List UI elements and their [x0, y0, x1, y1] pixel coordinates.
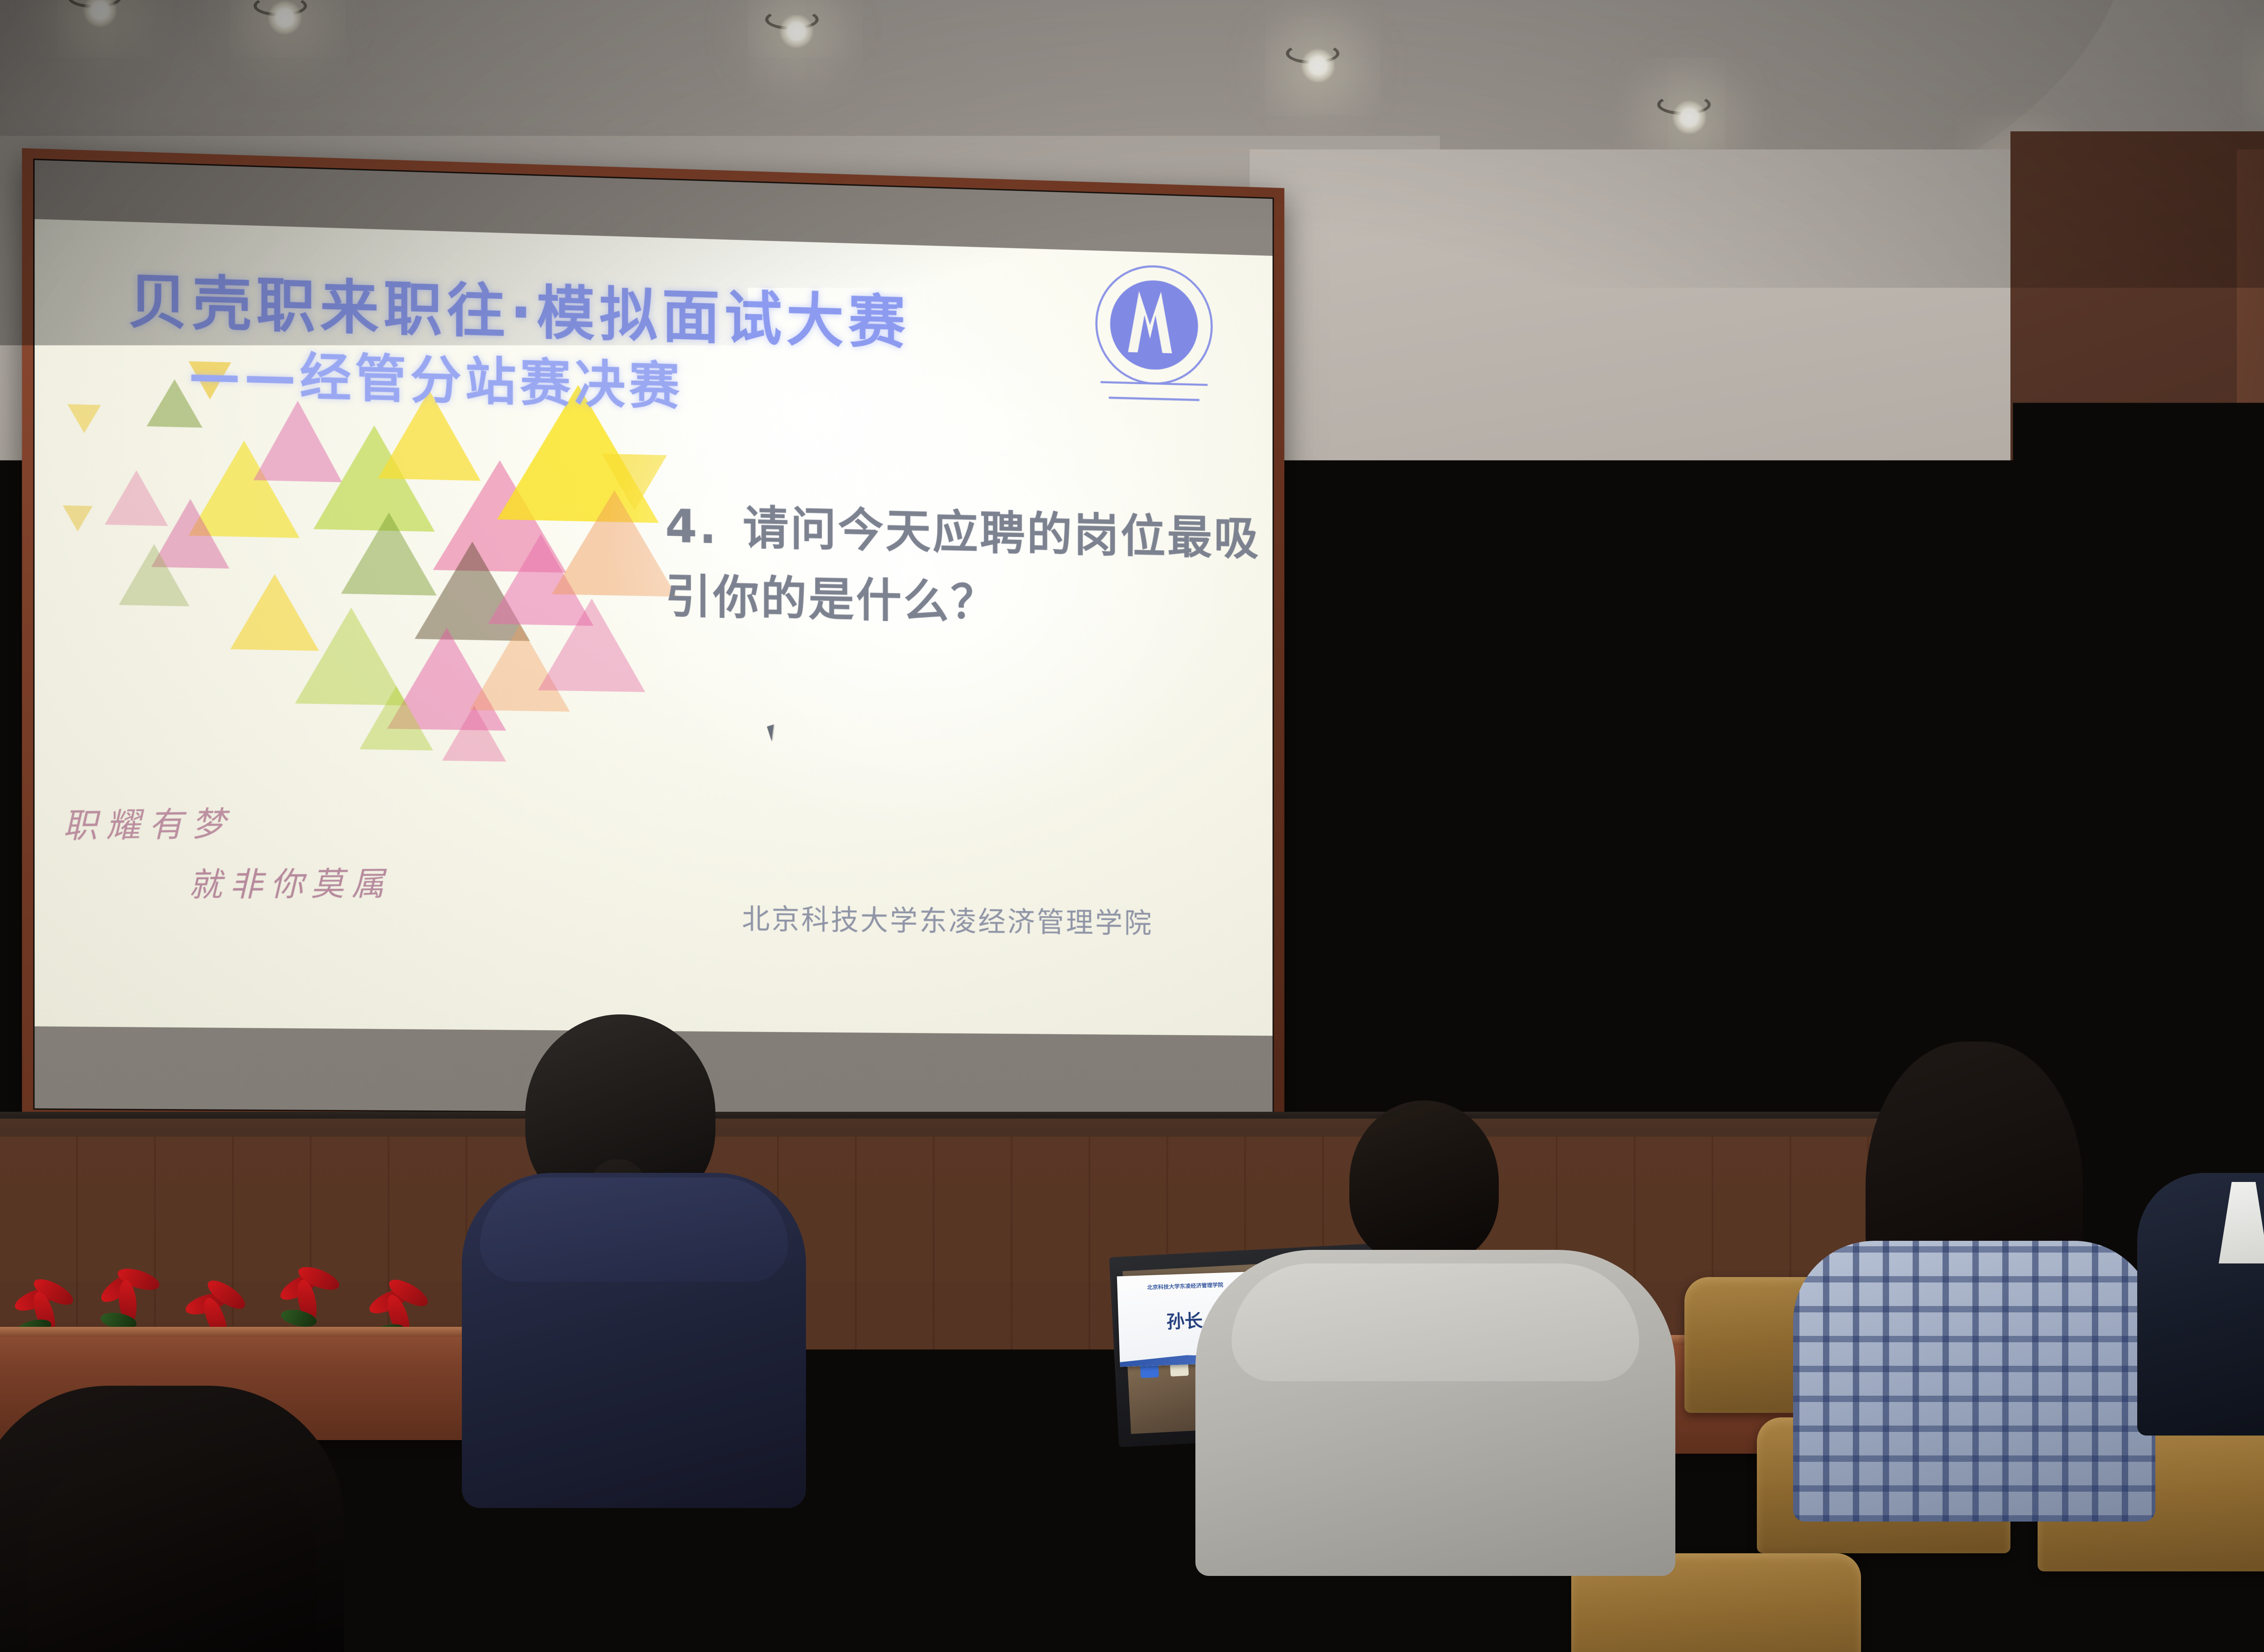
slide-footer: 北京科技大学东凌经济管理学院	[742, 896, 1153, 941]
contestant-hand	[1425, 891, 1468, 945]
hoodie-hood	[1232, 1263, 1639, 1381]
decor-triangle	[67, 404, 101, 433]
hoodie-hood	[480, 1177, 788, 1282]
gooseneck-microphone-head	[2161, 869, 2182, 897]
auditorium-chair[interactable]	[625, 1553, 906, 1652]
host-lips	[2231, 815, 2250, 822]
name-card-name: 孙长	[1166, 1306, 1203, 1334]
slide-handwriting-line1: 职耀有梦	[62, 797, 235, 848]
projection-screen[interactable]: 贝壳职来职往·模拟面试大赛 ——经管分站赛决赛 4.请问今天应聘的岗位最吸引你的…	[33, 158, 1274, 1116]
decor-triangle	[360, 685, 433, 750]
presentation-slide: 贝壳职来职往·模拟面试大赛 ——经管分站赛决赛 4.请问今天应聘的岗位最吸引你的…	[34, 219, 1272, 1036]
ceiling-spotlight	[1672, 100, 1707, 135]
lecture-hall-scene: 贝壳职来职往·模拟面试大赛 ——经管分站赛决赛 4.请问今天应聘的岗位最吸引你的…	[0, 0, 2264, 1652]
ceiling-spotlight	[779, 14, 814, 49]
projection-screen-frame: 贝壳职来职往·模拟面试大赛 ——经管分站赛决赛 4.请问今天应聘的岗位最吸引你的…	[22, 148, 1285, 1127]
contestant-number-badge: 1	[1471, 969, 1530, 1023]
ceiling-spotlight	[1300, 48, 1336, 83]
audience-member-plaid-shirt	[1793, 1241, 2155, 1522]
decor-triangle	[538, 598, 645, 692]
whiteboard-glare	[1435, 664, 1516, 691]
decor-triangle	[62, 505, 92, 532]
decor-triangle	[442, 705, 506, 762]
mouse-pointer-icon	[767, 722, 786, 741]
eyeglasses-bridge	[1471, 788, 1484, 791]
decor-triangle	[602, 454, 667, 511]
name-card-header: 北京科技大学东凌经济管理学院	[1147, 1281, 1223, 1291]
audience-hair	[688, 1037, 792, 1173]
question-number: 4.	[665, 499, 718, 554]
decor-triangle	[105, 470, 168, 526]
poinsettia-plant	[272, 1266, 358, 1334]
slide-question: 4.请问今天应聘的岗位最吸引你的是什么？	[665, 491, 1272, 643]
ustb-donlinks-logo	[1085, 258, 1223, 409]
bottle-cap	[2148, 1169, 2171, 1186]
slide-handwriting-line2: 就非你莫属	[188, 857, 392, 906]
whiteboard-glare	[1765, 994, 1824, 1017]
eyeglasses-right-lens	[1482, 778, 1522, 806]
poinsettia-plant	[91, 1268, 177, 1336]
eyeglasses-left-lens	[1426, 778, 1467, 806]
audience-hair	[1349, 1100, 1499, 1263]
question-text: 请问今天应聘的岗位最吸引你的是什么？	[665, 501, 1260, 630]
decor-triangle	[119, 543, 189, 606]
ceiling-spotlight	[267, 0, 302, 35]
